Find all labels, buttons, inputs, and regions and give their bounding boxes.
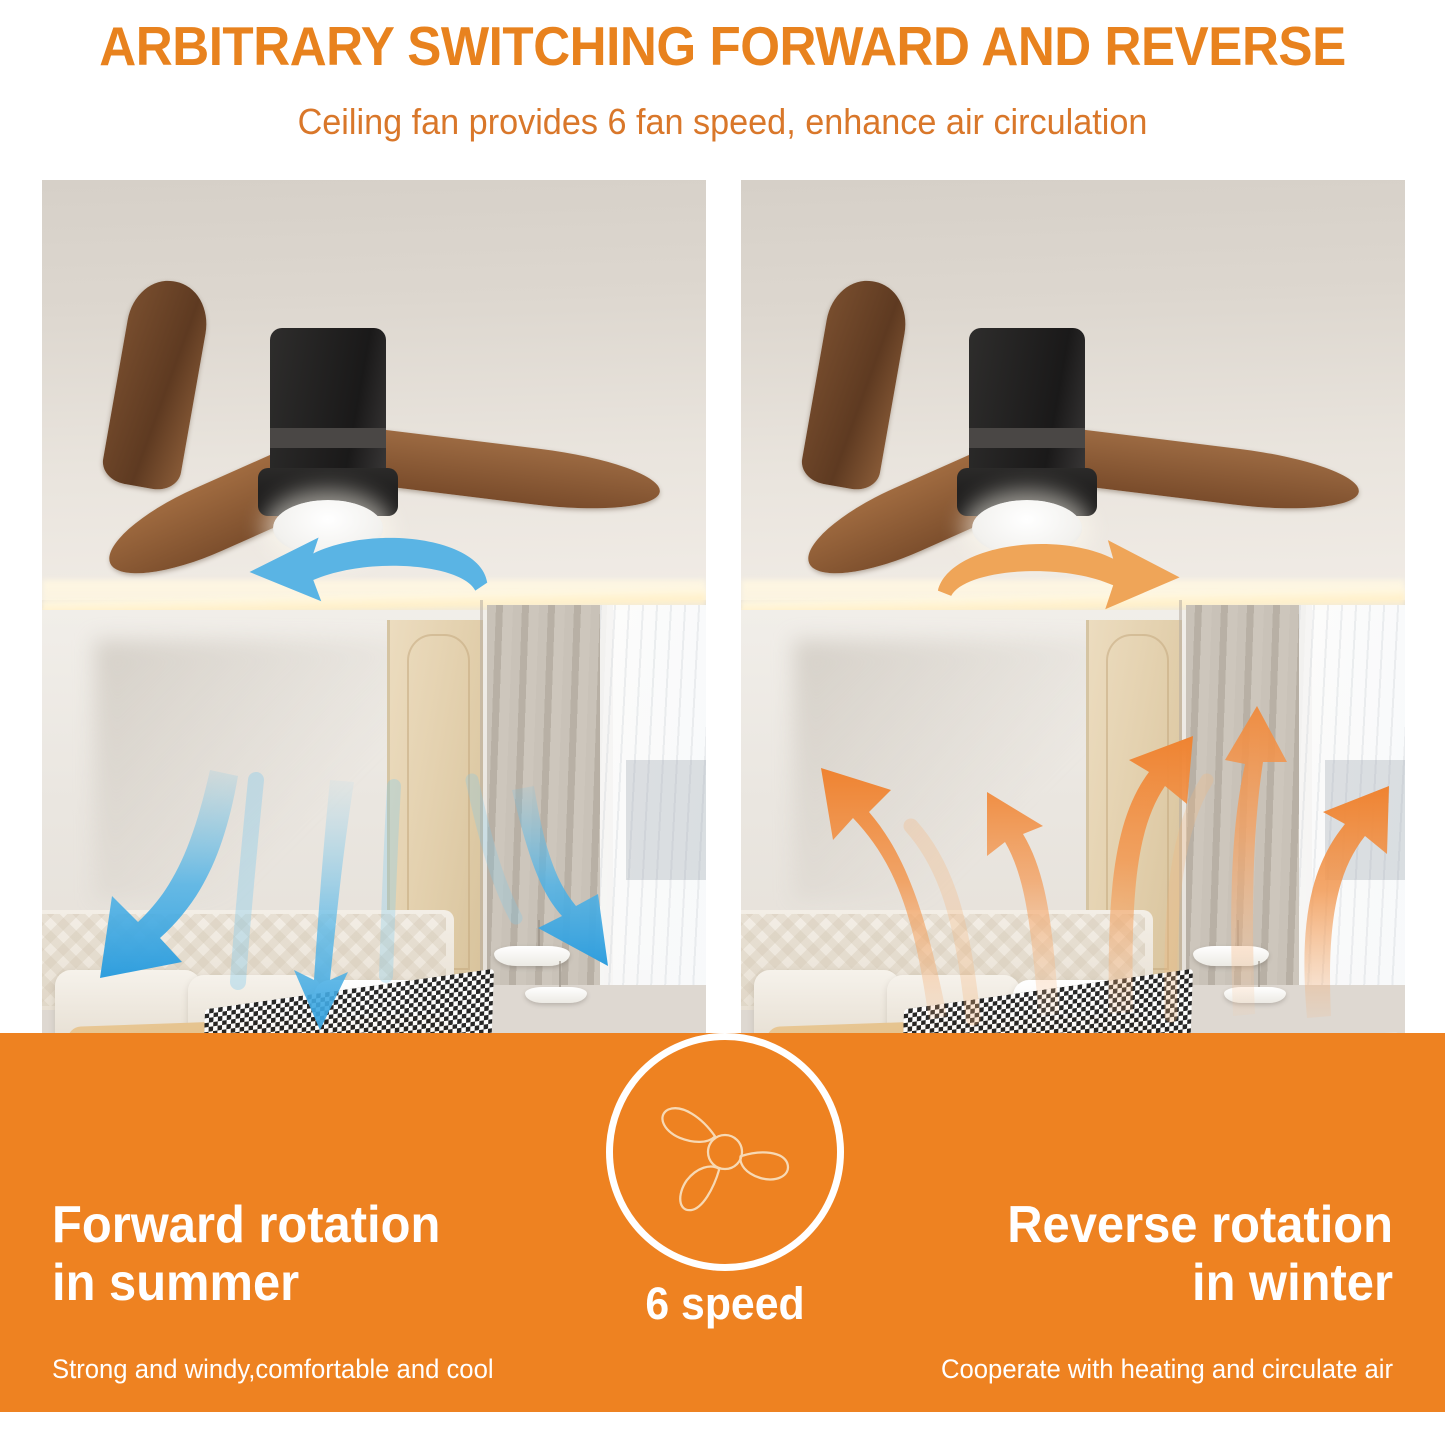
feature-left-caption: Strong and windy,comfortable and cool xyxy=(52,1354,546,1385)
panel-reverse-rotation xyxy=(741,180,1405,1180)
pendant-lamp xyxy=(1193,920,1299,1040)
feature-right-title-line2: in winter xyxy=(904,1254,1393,1312)
reverse-rotation-arrow xyxy=(914,480,1206,680)
pendant-lamp xyxy=(494,920,600,1040)
feature-left-title-line1: Forward rotation xyxy=(52,1196,541,1254)
fan-motor-band xyxy=(969,428,1085,448)
feature-right-title-line1: Reverse rotation xyxy=(904,1196,1393,1254)
fan-blade xyxy=(799,275,913,494)
window xyxy=(1325,760,1405,880)
fan-motor-housing xyxy=(969,328,1085,488)
window xyxy=(626,760,706,880)
panel-forward-rotation xyxy=(42,180,706,1180)
page-subtitle: Ceiling fan provides 6 fan speed, enhanc… xyxy=(36,100,1409,143)
feature-left: Forward rotation in summer Strong and wi… xyxy=(52,1196,572,1385)
comparison-panels xyxy=(42,180,1405,1180)
fan-blades-icon xyxy=(640,1067,810,1237)
feature-right: Reverse rotation in winter Cooperate wit… xyxy=(873,1196,1393,1385)
forward-rotation-arrow xyxy=(215,480,507,680)
feature-right-caption: Cooperate with heating and circulate air xyxy=(899,1354,1393,1385)
feature-left-title-line2: in summer xyxy=(52,1254,541,1312)
fan-motor-housing xyxy=(270,328,386,488)
fan-speed-badge xyxy=(606,1033,844,1271)
page-title: ARBITRARY SWITCHING FORWARD AND REVERSE xyxy=(51,18,1395,76)
fan-motor-band xyxy=(270,428,386,448)
fan-speed-label: 6 speed xyxy=(612,1278,838,1330)
fan-blade xyxy=(100,275,214,494)
product-feature-page: ARBITRARY SWITCHING FORWARD AND REVERSE … xyxy=(0,0,1445,1445)
